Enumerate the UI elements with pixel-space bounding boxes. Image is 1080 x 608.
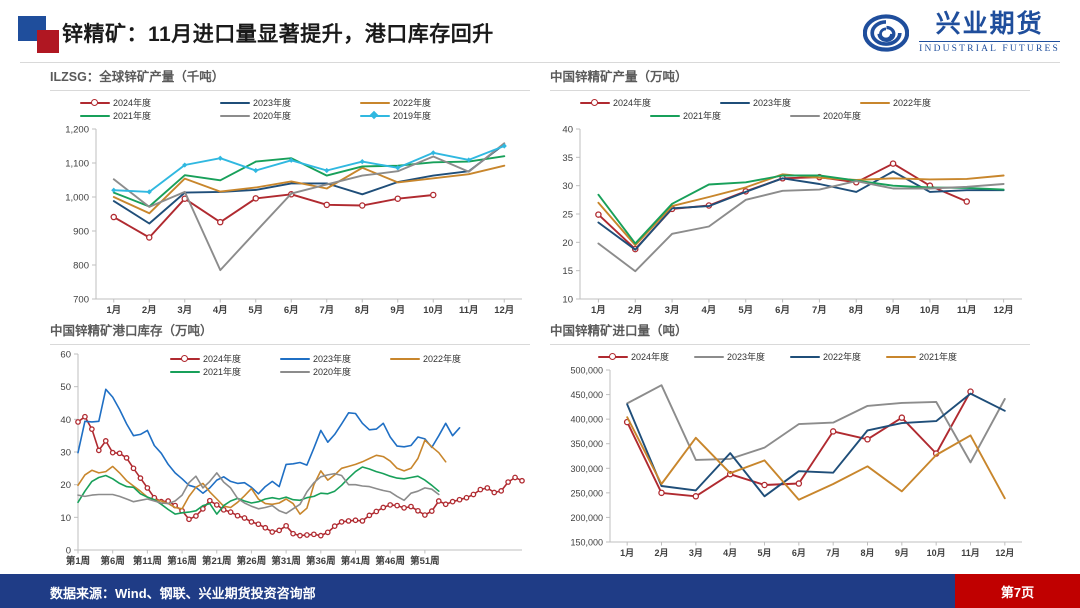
data-point-marker bbox=[423, 513, 427, 517]
data-point-marker bbox=[430, 509, 434, 513]
legend-label: 2021年度 bbox=[919, 350, 957, 363]
x-axis-tick-label: 9月 bbox=[390, 305, 405, 316]
legend-swatch-icon bbox=[360, 111, 390, 121]
x-axis-tick-label: 8月 bbox=[355, 305, 370, 316]
y-axis-tick-label: 30 bbox=[60, 448, 71, 459]
x-axis-tick-label: 2月 bbox=[628, 305, 643, 316]
y-axis-tick-label: 1,200 bbox=[65, 125, 89, 136]
legend-swatch-icon bbox=[886, 352, 916, 362]
data-point-marker bbox=[890, 161, 895, 166]
series-line-2020年度 bbox=[114, 143, 505, 270]
data-point-marker bbox=[395, 503, 399, 507]
x-axis-tick-label: 3月 bbox=[689, 548, 703, 558]
x-axis-tick-label: 第16周 bbox=[167, 555, 197, 567]
legend-item-2024年度[interactable]: 2024年度 bbox=[580, 96, 720, 109]
data-point-marker bbox=[249, 520, 253, 524]
legend-swatch-icon bbox=[390, 354, 420, 364]
data-point-marker bbox=[596, 212, 601, 217]
legend-item-2023年度[interactable]: 2023年度 bbox=[220, 96, 360, 109]
legend-swatch-icon bbox=[790, 352, 820, 362]
data-point-marker bbox=[388, 503, 392, 507]
legend-label: 2019年度 bbox=[393, 109, 431, 122]
y-axis-tick-label: 200,000 bbox=[570, 513, 603, 523]
y-axis-tick-label: 10 bbox=[562, 295, 573, 306]
chart-panel-china-output: 中国锌精矿产量（万吨） 2024年度2023年度2022年度2021年度2020… bbox=[550, 66, 1030, 319]
legend-item-2024年度[interactable]: 2024年度 bbox=[170, 352, 280, 365]
y-axis-tick-label: 250,000 bbox=[570, 488, 603, 498]
legend-label: 2024年度 bbox=[613, 96, 651, 109]
data-point-marker bbox=[443, 502, 447, 506]
x-axis-tick-label: 6月 bbox=[284, 305, 299, 316]
x-axis-tick-label: 1月 bbox=[591, 305, 606, 316]
data-point-marker bbox=[110, 450, 114, 454]
data-point-marker bbox=[253, 196, 258, 201]
x-axis-tick-label: 5月 bbox=[757, 548, 771, 558]
y-axis-tick-label: 40 bbox=[60, 415, 71, 426]
x-axis-tick-label: 11月 bbox=[957, 305, 977, 316]
data-point-marker bbox=[277, 528, 281, 532]
legend-label: 2023年度 bbox=[727, 350, 765, 363]
data-point-marker bbox=[339, 520, 343, 524]
data-point-marker bbox=[319, 533, 323, 537]
x-axis-tick-label: 2月 bbox=[142, 305, 157, 316]
legend-swatch-icon bbox=[170, 354, 200, 364]
legend-label: 2024年度 bbox=[113, 96, 151, 109]
y-axis-tick-label: 15 bbox=[562, 266, 573, 277]
legend-item-2021年度[interactable]: 2021年度 bbox=[170, 365, 280, 378]
chart-svg: 7008009001,0001,1001,2001月2月3月4月5月6月7月8月… bbox=[50, 123, 530, 319]
y-axis-tick-label: 40 bbox=[562, 125, 573, 136]
data-point-marker bbox=[305, 533, 309, 537]
data-point-marker bbox=[111, 214, 116, 219]
chart-plot-area: 150,000200,000250,000300,000350,000400,0… bbox=[550, 364, 1030, 562]
company-brand: 兴业期货 INDUSTRIAL FUTURES bbox=[863, 8, 1060, 58]
data-point-marker bbox=[332, 524, 336, 528]
y-axis-tick-label: 20 bbox=[562, 238, 573, 249]
legend-item-2022年度[interactable]: 2022年度 bbox=[790, 350, 886, 363]
y-axis-tick-label: 35 bbox=[562, 153, 573, 164]
chart-panel-global-output: ILZSG：全球锌矿产量（千吨） 2024年度2023年度2022年度2021年… bbox=[50, 66, 530, 319]
data-point-marker bbox=[437, 499, 441, 503]
x-axis-tick-label: 7月 bbox=[812, 305, 827, 316]
data-point-marker bbox=[324, 168, 329, 173]
header-divider bbox=[20, 62, 1060, 63]
legend-label: 2021年度 bbox=[203, 365, 241, 378]
y-axis-tick-label: 10 bbox=[60, 513, 71, 524]
legend-item-2024年度[interactable]: 2024年度 bbox=[80, 96, 220, 109]
x-axis-tick-label: 5月 bbox=[248, 305, 263, 316]
y-axis-tick-label: 30 bbox=[562, 181, 573, 192]
legend-swatch-icon bbox=[694, 352, 724, 362]
legend-item-2019年度[interactable]: 2019年度 bbox=[360, 109, 500, 122]
data-point-marker bbox=[90, 427, 94, 431]
chart-legend: 2024年度2023年度2022年度2021年度2020年度2019年度 bbox=[50, 94, 530, 123]
data-point-marker bbox=[138, 476, 142, 480]
legend-swatch-icon bbox=[280, 367, 310, 377]
series-line-2020年度 bbox=[598, 181, 1003, 271]
series-line-2023年度 bbox=[627, 385, 1005, 462]
x-axis-tick-label: 7月 bbox=[319, 305, 334, 316]
legend-item-2023年度[interactable]: 2023年度 bbox=[280, 352, 390, 365]
legend-swatch-icon bbox=[170, 367, 200, 377]
x-axis-tick-label: 第1周 bbox=[66, 555, 90, 567]
data-point-marker bbox=[124, 456, 128, 460]
legend-swatch-icon bbox=[790, 111, 820, 121]
x-axis-tick-label: 8月 bbox=[849, 305, 864, 316]
chart-title-divider bbox=[550, 344, 1030, 345]
data-point-marker bbox=[131, 466, 135, 470]
swirl-logo-icon bbox=[863, 10, 909, 56]
chart-svg: 150,000200,000250,000300,000350,000400,0… bbox=[550, 364, 1030, 562]
x-axis-tick-label: 第11周 bbox=[133, 555, 162, 567]
legend-label: 2022年度 bbox=[423, 352, 461, 365]
data-point-marker bbox=[492, 490, 496, 494]
x-axis-tick-label: 第36周 bbox=[306, 555, 336, 567]
x-axis-tick-label: 第51周 bbox=[410, 555, 440, 567]
x-axis-tick-label: 1月 bbox=[106, 305, 121, 316]
legend-swatch-icon bbox=[860, 98, 890, 108]
data-point-marker bbox=[353, 518, 357, 522]
y-axis-tick-label: 150,000 bbox=[570, 538, 603, 548]
legend-label: 2024年度 bbox=[203, 352, 241, 365]
legend-label: 2020年度 bbox=[823, 109, 861, 122]
legend-label: 2022年度 bbox=[823, 350, 861, 363]
chart-plot-area: 7008009001,0001,1001,2001月2月3月4月5月6月7月8月… bbox=[50, 123, 530, 319]
chart-legend: 2024年度2023年度2022年度2021年度 bbox=[550, 348, 1030, 364]
legend-item-2024年度[interactable]: 2024年度 bbox=[598, 350, 694, 363]
x-axis-tick-label: 4月 bbox=[213, 305, 228, 316]
data-point-marker bbox=[360, 519, 364, 523]
legend-swatch-icon bbox=[220, 98, 250, 108]
x-axis-tick-label: 10月 bbox=[423, 305, 443, 316]
legend-label: 2022年度 bbox=[393, 96, 431, 109]
data-point-marker bbox=[478, 487, 482, 491]
chart-svg: 0102030405060第1周第6周第11周第16周第21周第26周第31周第… bbox=[50, 348, 530, 570]
legend-swatch-icon bbox=[720, 98, 750, 108]
y-axis-tick-label: 300,000 bbox=[570, 464, 603, 474]
legend-item-2020年度[interactable]: 2020年度 bbox=[220, 109, 360, 122]
y-axis-tick-label: 800 bbox=[73, 261, 89, 272]
x-axis-tick-label: 3月 bbox=[665, 305, 680, 316]
y-axis-tick-label: 60 bbox=[60, 350, 71, 361]
page-title: 锌精矿：11月进口量显著提升，港口库存回升 bbox=[62, 18, 494, 48]
chart-plot-area: 101520253035401月2月3月4月5月6月7月8月9月10月11月12… bbox=[550, 123, 1030, 319]
data-point-marker bbox=[899, 415, 904, 420]
data-point-marker bbox=[208, 498, 212, 502]
data-point-marker bbox=[326, 530, 330, 534]
x-axis-tick-label: 5月 bbox=[738, 305, 753, 316]
x-axis-tick-label: 4月 bbox=[723, 548, 737, 558]
y-axis-tick-label: 50 bbox=[60, 382, 71, 393]
chart-title: ILZSG：全球锌矿产量（千吨） bbox=[50, 66, 530, 85]
x-axis-tick-label: 12月 bbox=[995, 548, 1014, 558]
brand-text: 兴业期货 INDUSTRIAL FUTURES bbox=[919, 12, 1060, 55]
legend-label: 2022年度 bbox=[893, 96, 931, 109]
legend-swatch-icon bbox=[80, 98, 110, 108]
slide-page: 锌精矿：11月进口量显著提升，港口库存回升 兴业期货 INDUSTRIAL FU… bbox=[0, 0, 1080, 608]
legend-label: 2023年度 bbox=[313, 352, 351, 365]
y-axis-tick-label: 0 bbox=[66, 546, 71, 557]
y-axis-tick-label: 1,000 bbox=[65, 193, 89, 204]
legend-label: 2024年度 bbox=[631, 350, 669, 363]
series-line-2022年度 bbox=[598, 174, 1003, 245]
x-axis-tick-label: 第21周 bbox=[202, 555, 232, 567]
brand-name-en: INDUSTRIAL FUTURES bbox=[919, 41, 1060, 55]
data-point-marker bbox=[228, 510, 232, 514]
series-line-2023年度 bbox=[598, 172, 1003, 250]
data-point-marker bbox=[499, 489, 503, 493]
data-point-marker bbox=[416, 509, 420, 513]
x-axis-tick-label: 10月 bbox=[920, 305, 940, 316]
x-axis-tick-label: 第46周 bbox=[375, 555, 405, 567]
data-point-marker bbox=[97, 448, 101, 452]
chart-legend: 2024年度2023年度2022年度2021年度2020年度 bbox=[550, 94, 1030, 123]
data-point-marker bbox=[506, 480, 510, 484]
x-axis-tick-label: 8月 bbox=[860, 548, 874, 558]
legend-item-2023年度[interactable]: 2023年度 bbox=[720, 96, 860, 109]
x-axis-tick-label: 7月 bbox=[826, 548, 840, 558]
chart-title-divider bbox=[550, 90, 1030, 91]
x-axis-tick-label: 1月 bbox=[620, 548, 634, 558]
data-point-marker bbox=[471, 492, 475, 496]
data-point-marker bbox=[402, 506, 406, 510]
x-axis-tick-label: 9月 bbox=[886, 305, 901, 316]
data-point-marker bbox=[693, 494, 698, 499]
series-line-2021年度 bbox=[598, 176, 1003, 244]
data-point-marker bbox=[457, 497, 461, 501]
chart-title: 中国锌精矿港口库存（万吨） bbox=[50, 320, 530, 339]
data-point-marker bbox=[145, 486, 149, 490]
legend-item-2021年度[interactable]: 2021年度 bbox=[80, 109, 220, 122]
chart-panel-import-volume: 中国锌精矿进口量（吨） 2024年度2023年度2022年度2021年度 150… bbox=[550, 320, 1030, 562]
data-point-marker bbox=[659, 490, 664, 495]
legend-item-2022年度[interactable]: 2022年度 bbox=[860, 96, 1000, 109]
chart-plot-area: 0102030405060第1周第6周第11周第16周第21周第26周第31周第… bbox=[50, 348, 530, 570]
y-axis-tick-label: 1,100 bbox=[65, 159, 89, 170]
x-axis-tick-label: 第31周 bbox=[271, 555, 301, 567]
legend-item-2021年度[interactable]: 2021年度 bbox=[886, 350, 982, 363]
legend-swatch-icon bbox=[280, 354, 310, 364]
legend-swatch-icon bbox=[220, 111, 250, 121]
x-axis-tick-label: 10月 bbox=[927, 548, 946, 558]
data-point-marker bbox=[374, 509, 378, 513]
data-point-marker bbox=[256, 522, 260, 526]
chart-title: 中国锌精矿产量（万吨） bbox=[550, 66, 1030, 85]
legend-swatch-icon bbox=[80, 111, 110, 121]
data-point-marker bbox=[284, 524, 288, 528]
chart-svg: 101520253035401月2月3月4月5月6月7月8月9月10月11月12… bbox=[550, 123, 1030, 319]
data-point-marker bbox=[450, 499, 454, 503]
x-axis-tick-label: 6月 bbox=[792, 548, 806, 558]
data-point-marker bbox=[485, 486, 489, 490]
legend-item-2022年度[interactable]: 2022年度 bbox=[390, 352, 500, 365]
data-point-marker bbox=[964, 199, 969, 204]
slide-header: 锌精矿：11月进口量显著提升，港口库存回升 兴业期货 INDUSTRIAL FU… bbox=[0, 0, 1080, 62]
data-point-marker bbox=[360, 159, 365, 164]
y-axis-tick-label: 350,000 bbox=[570, 439, 603, 449]
data-point-marker bbox=[312, 532, 316, 536]
legend-swatch-icon bbox=[580, 98, 610, 108]
legend-label: 2020年度 bbox=[313, 365, 351, 378]
y-axis-tick-label: 700 bbox=[73, 295, 89, 306]
legend-label: 2023年度 bbox=[753, 96, 791, 109]
y-axis-tick-label: 400,000 bbox=[570, 415, 603, 425]
data-point-marker bbox=[194, 514, 198, 518]
legend-swatch-icon bbox=[598, 352, 628, 362]
data-point-marker bbox=[831, 429, 836, 434]
data-point-marker bbox=[104, 439, 108, 443]
y-axis-tick-label: 900 bbox=[73, 227, 89, 238]
data-point-marker bbox=[270, 530, 274, 534]
legend-swatch-icon bbox=[650, 111, 680, 121]
x-axis-tick-label: 12月 bbox=[494, 305, 514, 316]
x-axis-tick-label: 12月 bbox=[994, 305, 1014, 316]
data-point-marker bbox=[147, 235, 152, 240]
data-point-marker bbox=[235, 514, 239, 518]
x-axis-tick-label: 第26周 bbox=[237, 555, 267, 567]
data-point-marker bbox=[360, 203, 365, 208]
slide-footer: 数据来源：Wind、钢联、兴业期货投资咨询部 第7页 bbox=[0, 574, 1080, 608]
x-axis-tick-label: 6月 bbox=[775, 305, 790, 316]
x-axis-tick-label: 3月 bbox=[177, 305, 192, 316]
x-axis-tick-label: 第41周 bbox=[341, 555, 371, 567]
data-point-marker bbox=[218, 156, 223, 161]
series-line-2022年度 bbox=[627, 394, 1005, 497]
data-point-marker bbox=[253, 168, 258, 173]
data-point-marker bbox=[218, 220, 223, 225]
data-point-marker bbox=[409, 504, 413, 508]
legend-item-2023年度[interactable]: 2023年度 bbox=[694, 350, 790, 363]
x-axis-tick-label: 11月 bbox=[459, 305, 479, 316]
y-axis-tick-label: 25 bbox=[562, 210, 573, 221]
x-axis-tick-label: 9月 bbox=[895, 548, 909, 558]
data-point-marker bbox=[83, 415, 87, 419]
data-point-marker bbox=[346, 519, 350, 523]
y-axis-tick-label: 20 bbox=[60, 480, 71, 491]
data-point-marker bbox=[381, 505, 385, 509]
data-point-marker bbox=[298, 533, 302, 537]
legend-item-2020年度[interactable]: 2020年度 bbox=[790, 109, 930, 122]
legend-label: 2020年度 bbox=[253, 109, 291, 122]
chart-legend: 2024年度2023年度2022年度2021年度2020年度 bbox=[170, 352, 500, 378]
brand-name-cn: 兴业期货 bbox=[936, 12, 1044, 37]
y-axis-tick-label: 500,000 bbox=[570, 366, 603, 376]
chart-panel-port-inventory: 中国锌精矿港口库存（万吨） 0102030405060第1周第6周第11周第16… bbox=[50, 320, 530, 570]
data-point-marker bbox=[187, 517, 191, 521]
data-point-marker bbox=[431, 192, 436, 197]
chart-title-divider bbox=[50, 344, 530, 345]
data-point-marker bbox=[324, 202, 329, 207]
legend-item-2021年度[interactable]: 2021年度 bbox=[650, 109, 790, 122]
data-point-marker bbox=[367, 513, 371, 517]
data-point-marker bbox=[215, 503, 219, 507]
legend-label: 2021年度 bbox=[683, 109, 721, 122]
legend-label: 2023年度 bbox=[253, 96, 291, 109]
logo-red-square bbox=[37, 30, 59, 53]
data-point-marker bbox=[291, 531, 295, 535]
data-point-marker bbox=[762, 482, 767, 487]
y-axis-tick-label: 450,000 bbox=[570, 390, 603, 400]
data-point-marker bbox=[395, 196, 400, 201]
data-point-marker bbox=[117, 451, 121, 455]
page-number-badge: 第7页 bbox=[955, 574, 1080, 608]
x-axis-tick-label: 2月 bbox=[654, 548, 668, 558]
series-line-2024年度 bbox=[78, 417, 522, 536]
legend-item-2020年度[interactable]: 2020年度 bbox=[280, 365, 390, 378]
data-point-marker bbox=[520, 479, 524, 483]
data-point-marker bbox=[76, 420, 80, 424]
data-point-marker bbox=[865, 437, 870, 442]
data-point-marker bbox=[464, 496, 468, 500]
data-point-marker bbox=[796, 481, 801, 486]
chart-title-divider bbox=[50, 90, 530, 91]
chart-title: 中国锌精矿进口量（吨） bbox=[550, 320, 1030, 339]
data-source-text: 数据来源：Wind、钢联、兴业期货投资咨询部 bbox=[50, 583, 316, 602]
data-point-marker bbox=[242, 516, 246, 520]
data-point-marker bbox=[263, 526, 267, 530]
data-point-marker bbox=[111, 188, 116, 193]
x-axis-tick-label: 第6周 bbox=[101, 555, 125, 567]
data-point-marker bbox=[513, 475, 517, 479]
x-axis-tick-label: 4月 bbox=[702, 305, 717, 316]
legend-swatch-icon bbox=[360, 98, 390, 108]
deck-logo-mark bbox=[18, 16, 62, 54]
legend-item-2022年度[interactable]: 2022年度 bbox=[360, 96, 500, 109]
x-axis-tick-label: 11月 bbox=[961, 548, 980, 558]
legend-label: 2021年度 bbox=[113, 109, 151, 122]
